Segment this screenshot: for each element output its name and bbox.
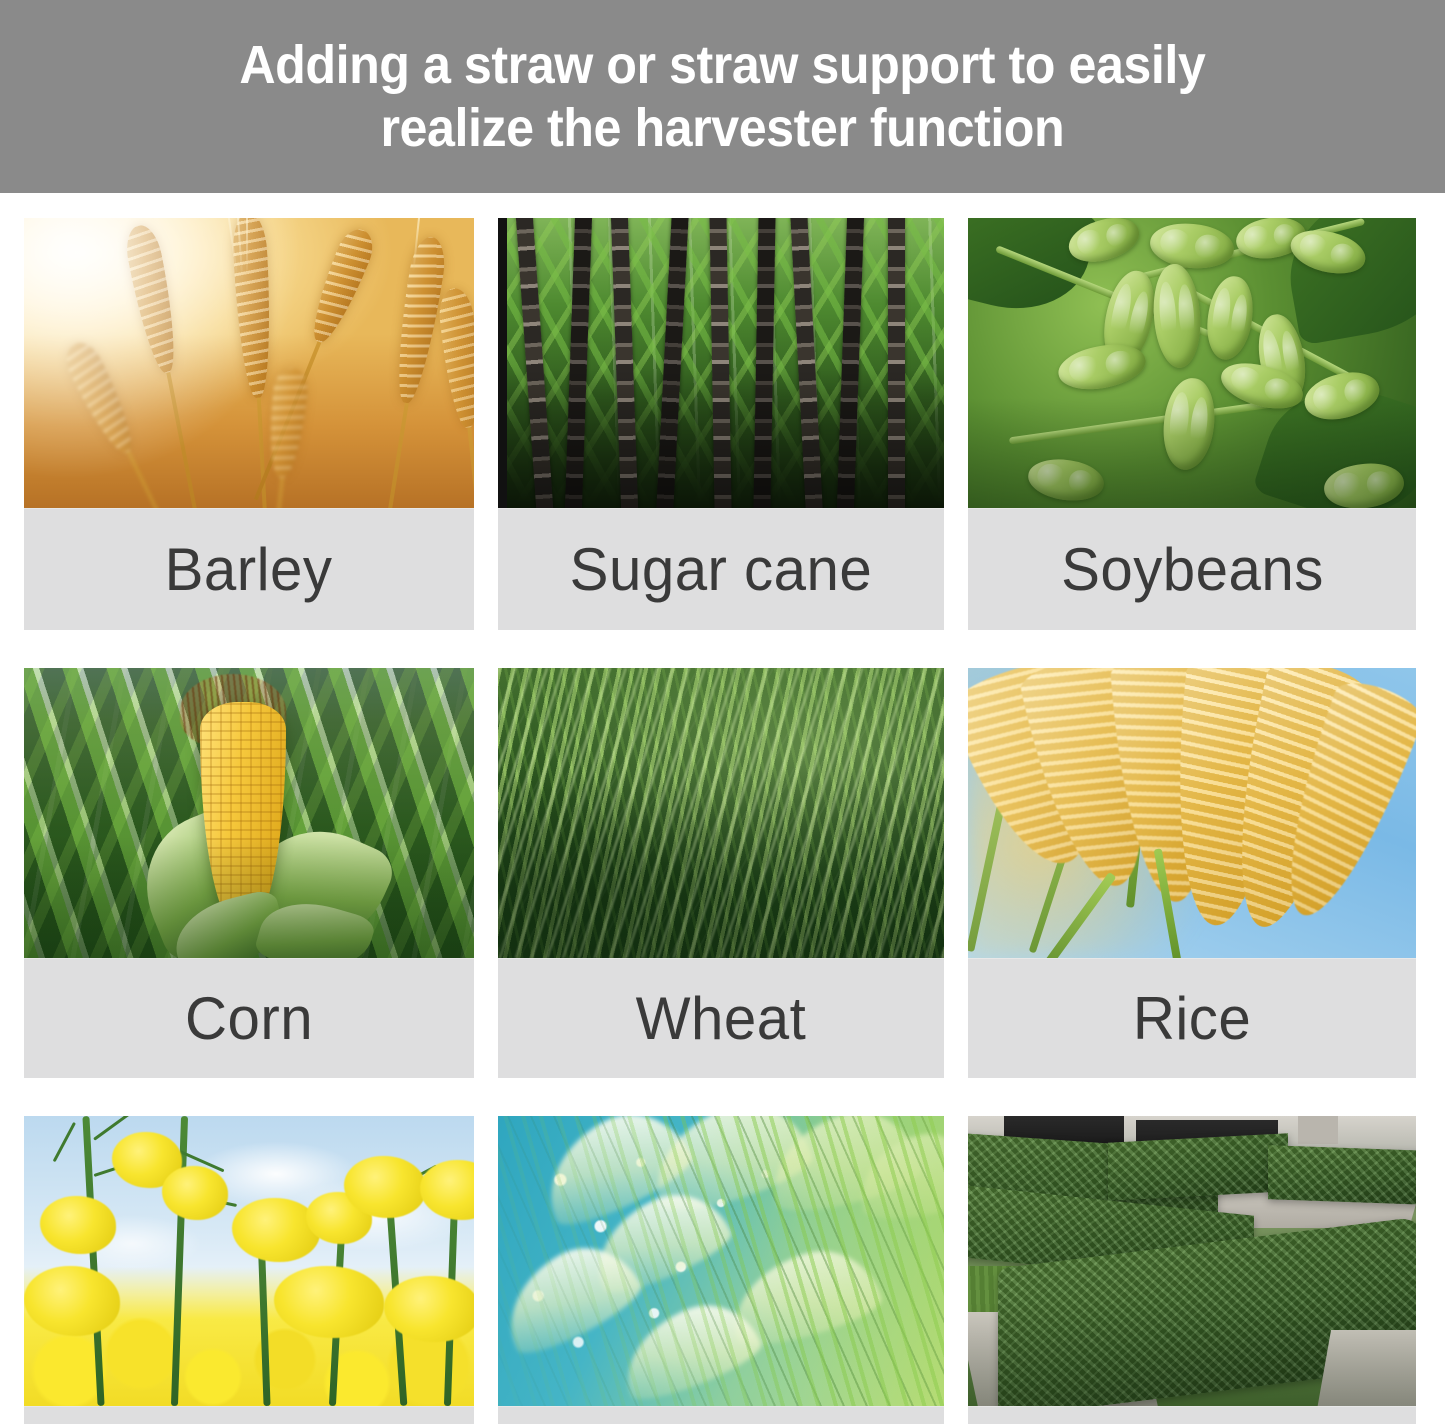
sugar-cane-caption: Sugar cane <box>498 508 944 630</box>
crop-card-rape[interactable]: Rape <box>24 1116 474 1424</box>
rape-photo <box>24 1116 474 1406</box>
reed-photo <box>498 1116 944 1406</box>
reed-caption: Reed <box>498 1406 944 1424</box>
crop-type-grid: Barley Sugar cane <box>24 218 1418 1424</box>
crop-card-reed[interactable]: Reed <box>498 1116 944 1424</box>
crop-card-sugar-cane[interactable]: Sugar cane <box>498 218 944 630</box>
corn-caption: Corn <box>24 958 474 1078</box>
shrub-caption: Shrub <box>968 1406 1416 1424</box>
crop-label: Sugar cane <box>570 540 873 600</box>
sugar-cane-photo <box>498 218 944 508</box>
wheat-caption: Wheat <box>498 958 944 1078</box>
rice-photo <box>968 668 1416 958</box>
crop-card-wheat[interactable]: Wheat <box>498 668 944 1078</box>
crop-card-barley[interactable]: Barley <box>24 218 474 630</box>
corn-photo <box>24 668 474 958</box>
page-title: Adding a straw or straw support to easil… <box>239 34 1205 158</box>
barley-caption: Barley <box>24 508 474 630</box>
rice-caption: Rice <box>968 958 1416 1078</box>
wheat-photo <box>498 668 944 958</box>
crop-label: Rice <box>1133 989 1251 1049</box>
rape-caption: Rape <box>24 1406 474 1424</box>
header-banner: Adding a straw or straw support to easil… <box>0 0 1445 193</box>
shrub-photo <box>968 1116 1416 1406</box>
crop-card-corn[interactable]: Corn <box>24 668 474 1078</box>
page-root: Adding a straw or straw support to easil… <box>0 0 1445 1424</box>
crop-label: Soybeans <box>1061 540 1324 600</box>
crop-card-soybeans[interactable]: Soybeans <box>968 218 1416 630</box>
crop-card-shrub[interactable]: Shrub <box>968 1116 1416 1424</box>
crop-card-rice[interactable]: Rice <box>968 668 1416 1078</box>
barley-photo <box>24 218 474 508</box>
soybeans-caption: Soybeans <box>968 508 1416 630</box>
crop-label: Corn <box>185 989 313 1049</box>
crop-label: Barley <box>165 540 333 600</box>
crop-label: Wheat <box>636 989 807 1049</box>
soybeans-photo <box>968 218 1416 508</box>
